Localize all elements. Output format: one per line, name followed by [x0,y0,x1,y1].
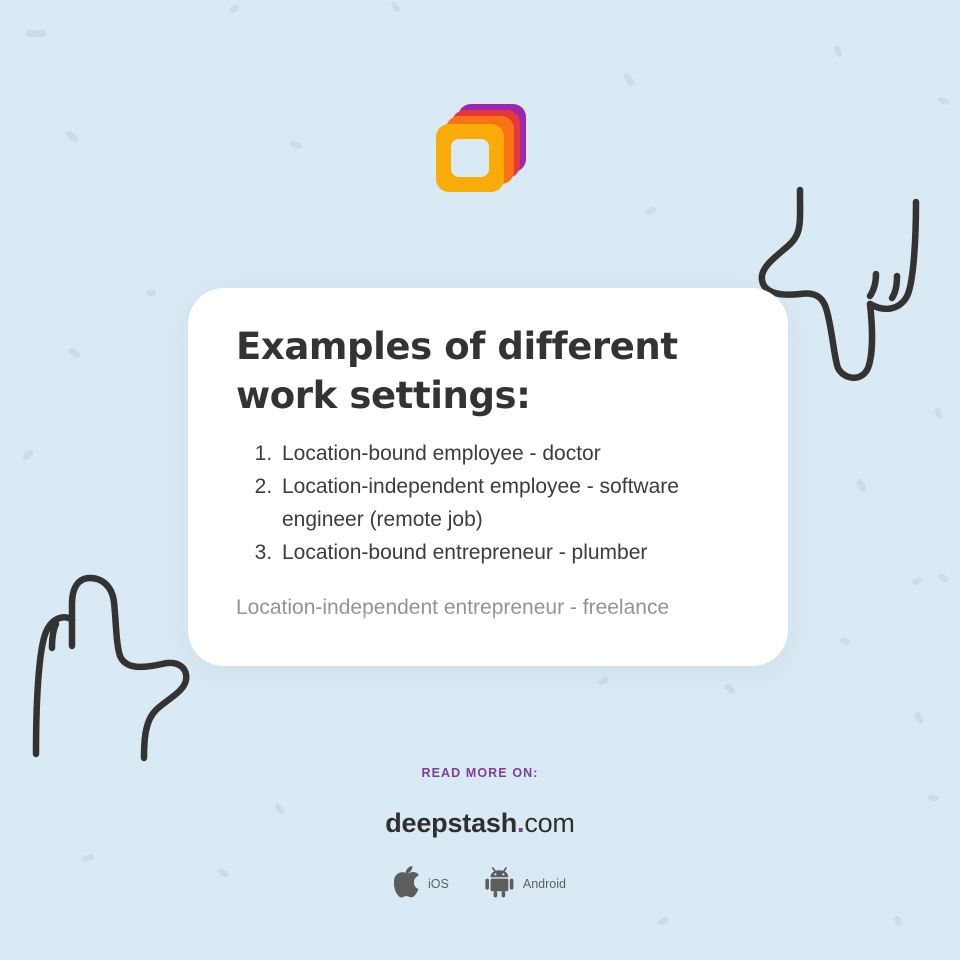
store-badge-android[interactable]: Android [483,865,566,903]
pointing-hand-outline-icon [20,558,215,788]
brand-logo-wrapper [0,98,960,194]
speck [67,347,81,359]
store-badge-ios[interactable]: iOS [394,866,449,903]
footer: READ MORE ON: deepstash.com iOS [0,766,960,903]
speck [390,1,401,13]
speck [597,675,609,686]
speck [644,206,657,216]
speck [26,30,46,37]
brand-name: deepstash [385,808,517,838]
logo-cutout [451,139,489,177]
speck [855,478,868,493]
store-label-android: Android [523,877,566,891]
speck [21,449,34,461]
speck [934,407,943,419]
content-card: Examples of different work settings: Loc… [188,288,788,666]
brand-url: deepstash.com [0,808,960,839]
card-fade-overlay [188,610,788,666]
speck [913,711,924,724]
speck [657,916,670,927]
store-label-ios: iOS [428,877,449,891]
examples-list: Location-bound employee - doctor Locatio… [236,438,740,570]
deepstash-logo-icon [434,98,526,194]
speck [893,915,902,926]
speck [146,290,156,296]
speck [911,576,922,585]
speck [839,636,851,646]
android-icon [483,865,516,903]
store-badges: iOS [0,865,960,903]
list-item: Location-bound entrepreneur - plumber [278,537,740,570]
speck [937,573,950,584]
speck [833,44,843,57]
brand-tld: com [524,808,574,838]
slide-canvas: Examples of different work settings: Loc… [0,0,960,960]
card-body: Examples of different work settings: Loc… [188,288,788,625]
apple-icon [394,866,421,903]
read-more-label: READ MORE ON: [0,766,960,780]
speck [228,4,240,14]
speck [622,72,636,87]
list-item: Location-independent employee - software… [278,471,740,537]
list-item: Location-bound employee - doctor [278,438,740,471]
speck [724,683,737,696]
page-title: Examples of different work settings: [236,322,726,420]
